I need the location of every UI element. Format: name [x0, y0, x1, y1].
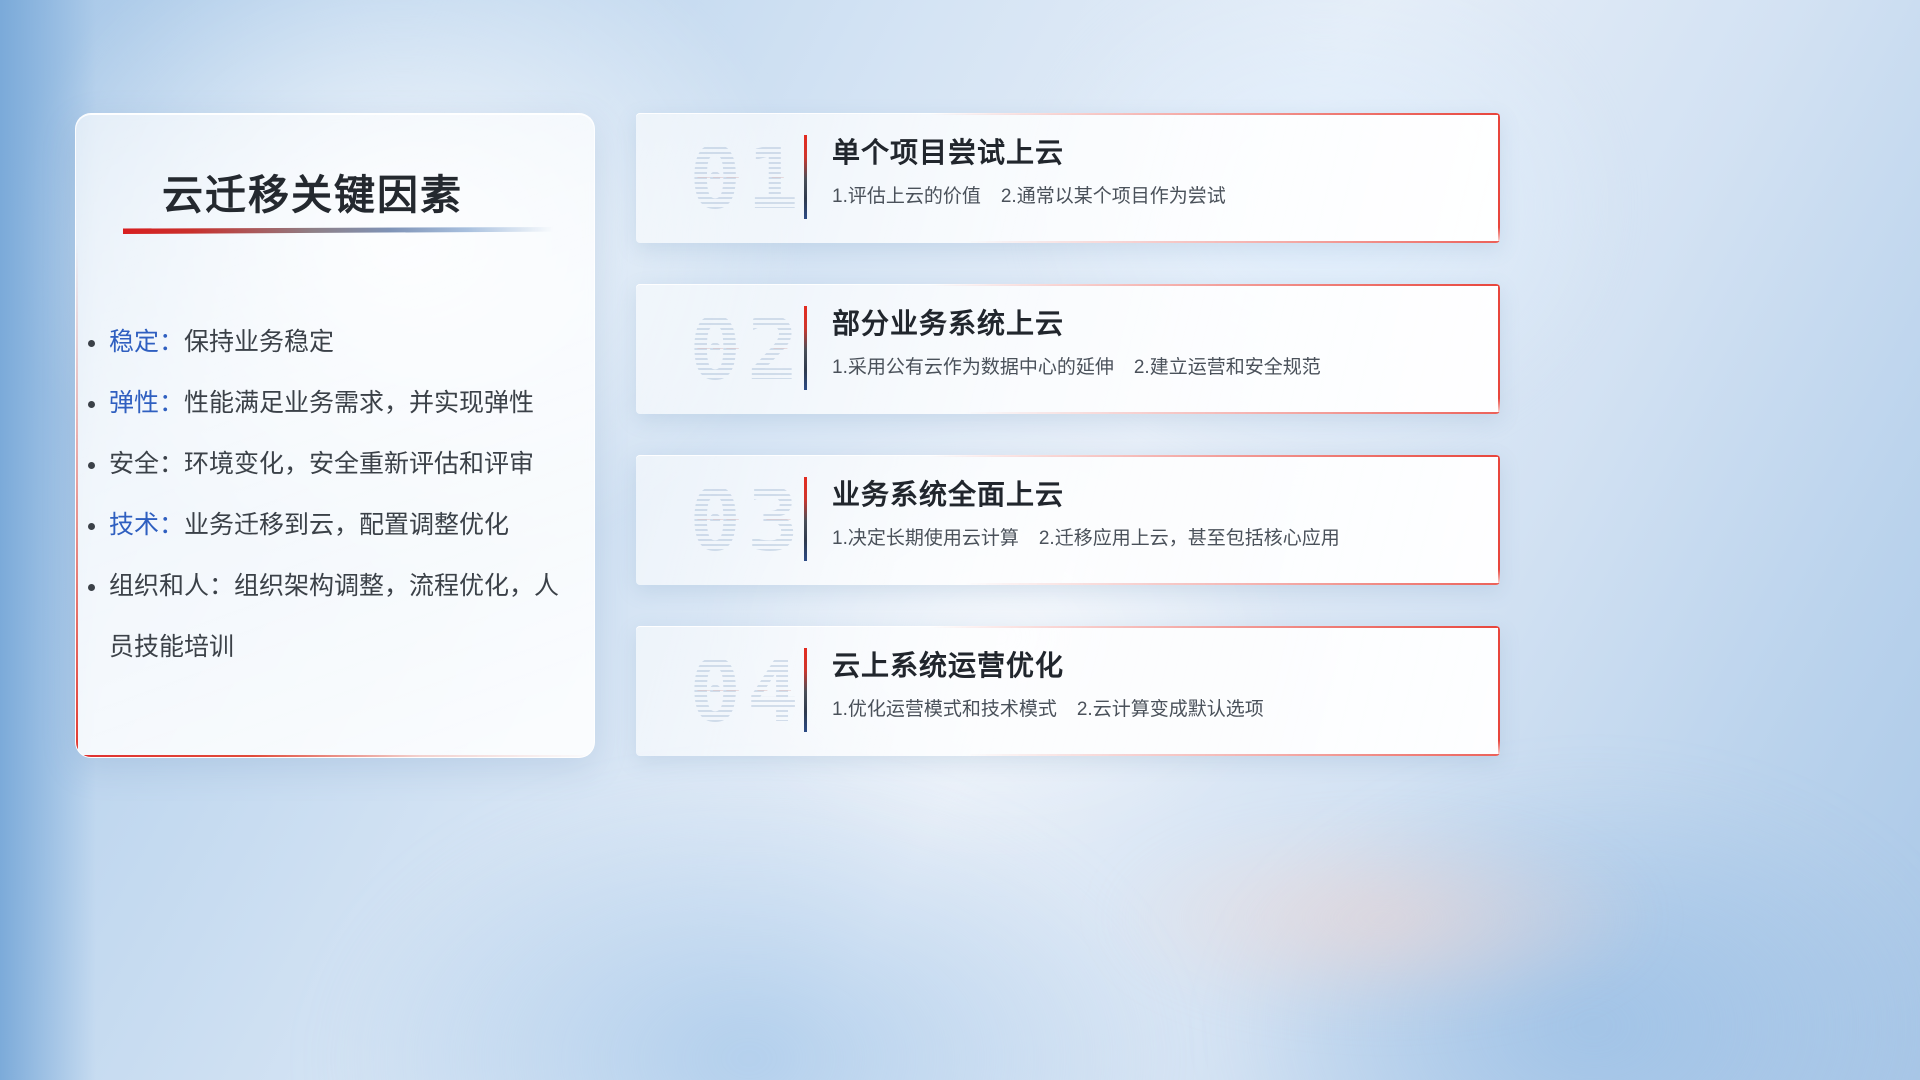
stage-description-part-1: 1.采用公有云作为数据中心的延伸: [832, 357, 1114, 378]
stage-description-part-1: 1.评估上云的价值: [832, 186, 981, 207]
stage-title: 单个项目尝试上云: [832, 133, 1466, 173]
key-factors-list: 稳定：保持业务稳定 弹性：性能满足业务需求，并实现弹性 安全：环境变化，安全重新…: [109, 312, 579, 678]
stage-card-body: 单个项目尝试上云 1.评估上云的价值2.通常以某个项目作为尝试: [832, 133, 1466, 211]
key-factors-panel: 云迁移关键因素 稳定：保持业务稳定 弹性：性能满足业务需求，并实现弹性 安全：环…: [75, 113, 595, 758]
list-item: 稳定：保持业务稳定: [109, 312, 579, 373]
list-item-text: 保持业务稳定: [184, 328, 334, 356]
stage-description-part-1: 1.优化运营模式和技术模式: [832, 699, 1057, 720]
stage-card[interactable]: 04 04 04 云上系统运营优化 1.优化运营模式和技术模式2.云计算变成默认…: [636, 626, 1500, 756]
stage-title: 业务系统全面上云: [832, 475, 1466, 515]
stage-card-bottom-accent: [964, 583, 1500, 585]
stage-card-bottom-accent: [964, 754, 1500, 756]
list-item: 安全：环境变化，安全重新评估和评审: [109, 434, 579, 495]
stage-description-part-2: 2.通常以某个项目作为尝试: [1001, 186, 1226, 207]
stage-description-part-1: 1.决定长期使用云计算: [832, 528, 1019, 549]
list-item: 弹性：性能满足业务需求，并实现弹性: [109, 373, 579, 434]
list-item-label: 组织和人：: [109, 572, 234, 600]
stage-card-bottom-accent: [964, 412, 1500, 414]
title-underline-accent: [123, 227, 553, 234]
stage-description-part-2: 2.迁移应用上云，甚至包括核心应用: [1039, 528, 1340, 549]
stage-card-body: 部分业务系统上云 1.采用公有云作为数据中心的延伸2.建立运营和安全规范: [832, 304, 1466, 382]
stage-card[interactable]: 01 01 01 单个项目尝试上云 1.评估上云的价值2.通常以某个项目作为尝试: [636, 113, 1500, 243]
list-item-label: 安全：: [109, 450, 184, 478]
stage-accent-divider: [804, 135, 807, 219]
migration-stage-cards: 01 01 01 单个项目尝试上云 1.评估上云的价值2.通常以某个项目作为尝试…: [636, 113, 1500, 797]
stage-title: 部分业务系统上云: [832, 304, 1466, 344]
stage-number-glitch-blue: 02: [660, 298, 826, 402]
stage-description: 1.采用公有云作为数据中心的延伸2.建立运营和安全规范: [832, 354, 1466, 382]
stage-number-glitch-blue: 03: [660, 469, 826, 573]
stage-title: 云上系统运营优化: [832, 646, 1466, 686]
list-item-label: 稳定：: [109, 328, 184, 356]
stage-description: 1.决定长期使用云计算2.迁移应用上云，甚至包括核心应用: [832, 525, 1466, 553]
list-item-text: 性能满足业务需求，并实现弹性: [184, 389, 534, 417]
stage-description-part-2: 2.云计算变成默认选项: [1077, 699, 1264, 720]
list-item-text: 业务迁移到云，配置调整优化: [184, 511, 509, 539]
stage-card-bottom-accent: [964, 241, 1500, 243]
page-title: 云迁移关键因素: [162, 161, 463, 221]
stage-card-body: 云上系统运营优化 1.优化运营模式和技术模式2.云计算变成默认选项: [832, 646, 1466, 724]
stage-card-body: 业务系统全面上云 1.决定长期使用云计算2.迁移应用上云，甚至包括核心应用: [832, 475, 1466, 553]
list-item: 组织和人：组织架构调整，流程优化，人员技能培训: [109, 556, 579, 678]
stage-accent-divider: [804, 306, 807, 390]
stage-description: 1.优化运营模式和技术模式2.云计算变成默认选项: [832, 696, 1466, 724]
list-item-label: 弹性：: [109, 389, 184, 417]
stage-description: 1.评估上云的价值2.通常以某个项目作为尝试: [832, 183, 1466, 211]
stage-accent-divider: [804, 648, 807, 732]
stage-card[interactable]: 03 03 03 业务系统全面上云 1.决定长期使用云计算2.迁移应用上云，甚至…: [636, 455, 1500, 585]
list-item-label: 技术：: [109, 511, 184, 539]
stage-card[interactable]: 02 02 02 部分业务系统上云 1.采用公有云作为数据中心的延伸2.建立运营…: [636, 284, 1500, 414]
stage-accent-divider: [804, 477, 807, 561]
background-warm-tint: [998, 778, 1766, 1059]
list-item-text: 环境变化，安全重新评估和评审: [184, 450, 534, 478]
list-item: 技术：业务迁移到云，配置调整优化: [109, 495, 579, 556]
stage-description-part-2: 2.建立运营和安全规范: [1134, 357, 1321, 378]
stage-number-glitch-blue: 04: [660, 640, 826, 744]
stage-number-glitch-blue: 01: [660, 127, 826, 231]
